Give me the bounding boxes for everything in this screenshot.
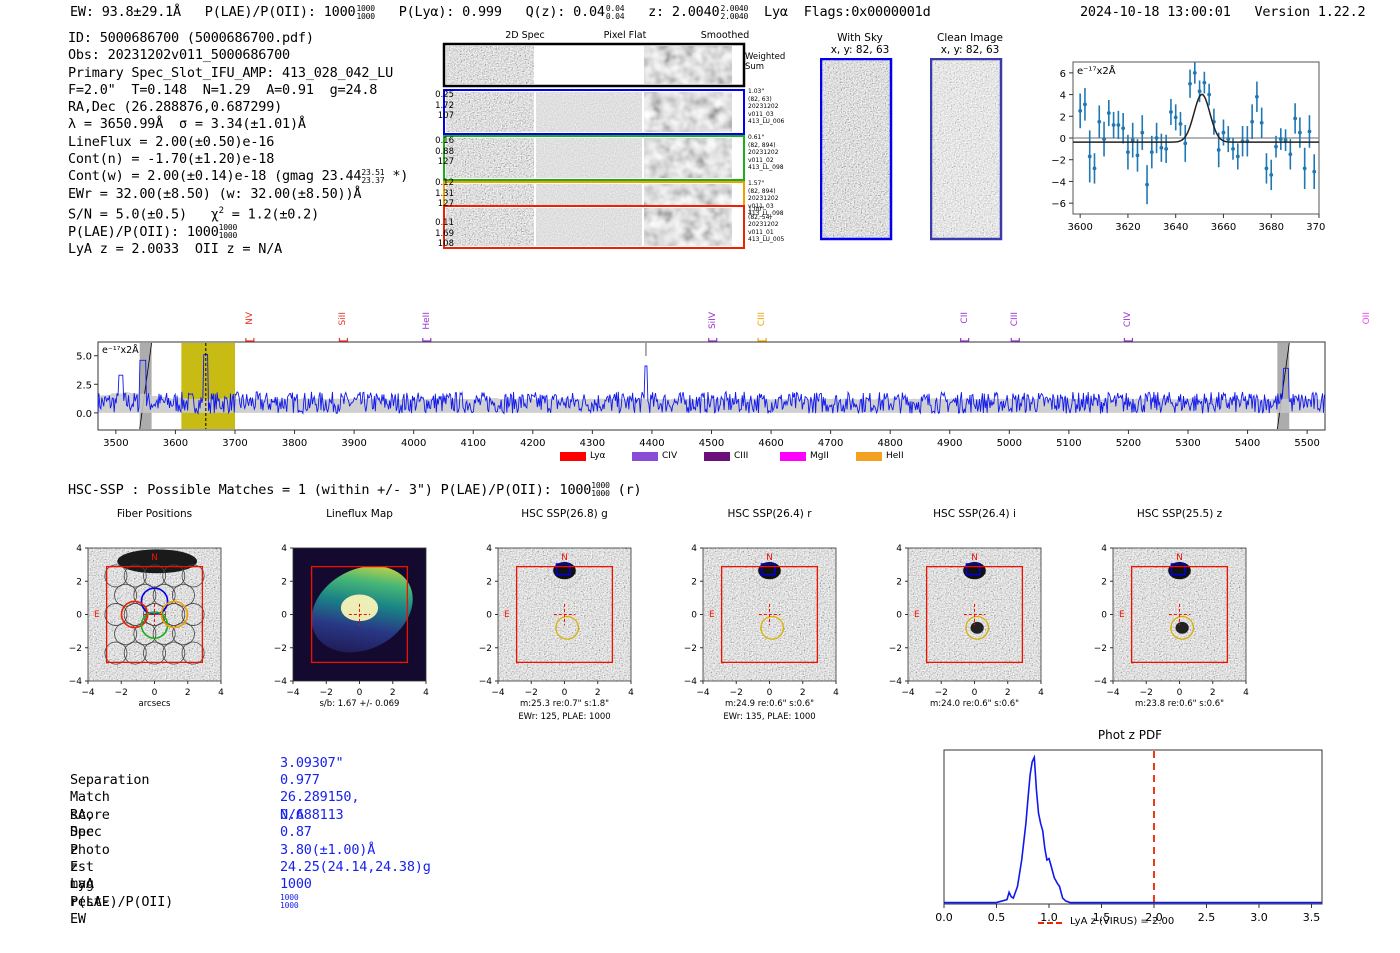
- svg-text:4300: 4300: [580, 438, 605, 449]
- cutout-image-2: NE−4−4−2−2002244: [458, 526, 645, 715]
- header-summary-line: EW: 93.8±29.1Å P(LAE)/P(OII): 1000100010…: [70, 4, 931, 21]
- photz-pdf-chart: Phot z PDF 0.00.51.01.52.02.53.03.5 LyA …: [930, 728, 1330, 943]
- svg-text:2: 2: [281, 577, 287, 587]
- info-redshifts: LyA z = 2.0033 OII z = N/A: [68, 241, 408, 258]
- line-profile-unit-label: e⁻¹⁷x2Å: [1077, 64, 1116, 77]
- svg-text:−4: −4: [1106, 688, 1120, 698]
- cutout-image-5: NE−4−4−2−2002244: [1073, 526, 1260, 715]
- svg-text:0: 0: [152, 688, 158, 698]
- info-wavelength-sigma: λ = 3650.99Å σ = 3.34(±1.01)Å: [68, 116, 408, 133]
- match-value-1: 0.977: [280, 772, 320, 789]
- with-sky-coords: x, y: 82, 63: [820, 44, 900, 56]
- svg-text:N: N: [151, 553, 158, 563]
- hsc-plae-fraction: 10001000: [591, 482, 609, 498]
- svg-text:4: 4: [896, 544, 902, 554]
- match-key-6: mag: [70, 876, 94, 893]
- svg-text:−6: −6: [1051, 199, 1066, 210]
- svg-text:5300: 5300: [1175, 438, 1200, 449]
- svg-text:−4: −4: [684, 677, 698, 687]
- svg-text:4400: 4400: [639, 438, 664, 449]
- header-flags: Flags:0x0000001d: [804, 4, 931, 20]
- cutout-caption2-3: EWr: 135, PLAE: 1000: [658, 711, 881, 723]
- header-qz-fraction: 0.040.04: [606, 5, 624, 21]
- svg-text:0.0: 0.0: [76, 409, 92, 420]
- svg-text:0: 0: [691, 611, 697, 621]
- spec2d-weighted-sum-row: [444, 44, 744, 86]
- header-version: Version 1.22.2: [1254, 4, 1365, 20]
- with-sky-title: With Sky: [820, 32, 900, 44]
- svg-text:4: 4: [218, 688, 224, 698]
- match-value-7: 100010001000: [280, 876, 312, 911]
- svg-text:0: 0: [1101, 611, 1107, 621]
- spectrum-legend-label-heii: HeII: [886, 451, 904, 461]
- svg-text:2: 2: [1101, 577, 1107, 587]
- info-ewr: EWr = 32.00(±8.50) (w: 32.00(±8.50))Å: [68, 186, 408, 203]
- svg-text:3660: 3660: [1211, 222, 1236, 233]
- spectrum-legend-swatch-lyα: [560, 452, 586, 461]
- match-value-0: 3.09307": [280, 755, 343, 772]
- svg-text:3640: 3640: [1163, 222, 1188, 233]
- svg-text:0: 0: [972, 688, 978, 698]
- svg-text:−2: −2: [730, 688, 743, 698]
- svg-text:−4: −4: [889, 677, 903, 687]
- svg-text:−2: −2: [274, 644, 287, 654]
- spec2d-row-nums-1: 0.251.72107: [422, 90, 454, 122]
- svg-text:3.0: 3.0: [1250, 911, 1268, 924]
- cutout-title-0: Fiber Positions: [53, 508, 256, 520]
- svg-text:4700: 4700: [818, 438, 843, 449]
- cutout-image-4: NE−4−4−2−2002244: [868, 526, 1055, 715]
- spec2d-block: 2D Spec Pixel Flat Smoothed Weighted Sum: [440, 30, 780, 250]
- svg-text:−2: −2: [1094, 644, 1107, 654]
- svg-text:−4: −4: [69, 677, 83, 687]
- cutout-title-5: HSC SSP(25.5) z: [1078, 508, 1281, 520]
- svg-text:4500: 4500: [699, 438, 724, 449]
- spec2d-row-meta-2: 0.61"(82, 894) 20231202v011_02 413_LL_09…: [748, 134, 784, 172]
- header-timestamp-version: 2024-10-18 13:00:01 Version 1.22.2: [1080, 4, 1365, 20]
- svg-text:5.0: 5.0: [76, 352, 92, 363]
- header-line-name: Lyα: [764, 4, 788, 20]
- spec2d-row-meta-4: 1.00"(82, 54) 20231202v011_01 413_LU_005: [748, 206, 784, 244]
- info-plae: P(LAE)/P(OII): 100010001000: [68, 224, 408, 241]
- cutout-caption1-0: arcsecs: [43, 698, 266, 710]
- photz-title: Phot z PDF: [930, 728, 1330, 742]
- svg-text:−2: −2: [1051, 156, 1066, 167]
- spectrum-legend-swatch-ciii: [704, 452, 730, 461]
- svg-text:2: 2: [390, 688, 396, 698]
- svg-text:4: 4: [423, 688, 429, 698]
- spectrum-legend-swatch-civ: [632, 452, 658, 461]
- clean-image-title: Clean Image: [930, 32, 1010, 44]
- svg-text:2: 2: [1005, 688, 1011, 698]
- svg-text:N: N: [766, 553, 773, 563]
- hsc-ssp-header: HSC-SSP : Possible Matches = 1 (within +…: [68, 482, 641, 498]
- svg-text:−2: −2: [320, 688, 333, 698]
- svg-text:0: 0: [1177, 688, 1183, 698]
- emission-line-label-nv-0: NV: [245, 312, 255, 325]
- svg-text:−4: −4: [696, 688, 710, 698]
- svg-text:−2: −2: [69, 644, 82, 654]
- cutout-title-3: HSC SSP(26.4) r: [668, 508, 871, 520]
- svg-text:4: 4: [281, 544, 287, 554]
- header-ew: EW: 93.8±29.1Å: [70, 4, 181, 20]
- svg-text:0: 0: [486, 611, 492, 621]
- svg-text:−2: −2: [479, 644, 492, 654]
- spectrum-legend-swatch-mgii: [780, 452, 806, 461]
- cutout-title-4: HSC SSP(26.4) i: [873, 508, 1076, 520]
- header-z-fraction: 2.00402.0040: [720, 5, 748, 21]
- emission-line-label-ciii-4: CIII: [757, 312, 767, 326]
- svg-text:2: 2: [185, 688, 191, 698]
- match-value-fraction: 10001000: [280, 894, 298, 910]
- svg-text:2: 2: [595, 688, 601, 698]
- svg-text:5100: 5100: [1056, 438, 1081, 449]
- svg-text:2.5: 2.5: [76, 380, 92, 391]
- info-plae-fraction: 10001000: [219, 224, 237, 240]
- svg-text:4: 4: [628, 688, 634, 698]
- cutout-caption1-3: m:24.9 re:0.6" s:0.6": [658, 698, 881, 710]
- svg-text:0: 0: [1060, 134, 1066, 145]
- info-radec: RA,Dec (26.288876,0.687299): [68, 99, 408, 116]
- svg-text:−4: −4: [1051, 177, 1066, 188]
- header-plae-label: P(LAE)/P(OII): 1000: [205, 4, 356, 20]
- spec2d-row-nums-2: 0.160.88127: [422, 136, 454, 168]
- svg-text:4200: 4200: [520, 438, 545, 449]
- svg-text:6: 6: [1060, 69, 1066, 80]
- svg-text:5200: 5200: [1116, 438, 1141, 449]
- spectrum-legend-label-civ: CIV: [662, 451, 677, 461]
- emission-line-label-heii-2: HeII: [422, 312, 432, 330]
- svg-text:N: N: [561, 553, 568, 563]
- info-primary-spec-slot: Primary Spec_Slot_IFU_AMP: 413_028_042_L…: [68, 65, 408, 82]
- svg-text:4: 4: [1038, 688, 1044, 698]
- emission-line-label-oii-8: OII: [1362, 312, 1372, 324]
- cutout-caption1-4: m:24.0 re:0.6" s:0.6": [863, 698, 1086, 710]
- spec2d-row-meta-1: 1.03"(82, 63) 20231202v011_03 413_LU_006: [748, 88, 784, 126]
- svg-text:N: N: [1176, 553, 1183, 563]
- photz-legend-swatch: [1038, 922, 1062, 924]
- svg-text:0: 0: [357, 688, 363, 698]
- info-id: ID: 5000686700 (5000686700.pdf): [68, 30, 408, 47]
- svg-text:e⁻¹⁷x2Å: e⁻¹⁷x2Å: [102, 344, 139, 356]
- spec2d-fiber-row-1: [444, 90, 744, 134]
- svg-text:−2: −2: [1140, 688, 1153, 698]
- source-info-block: ID: 5000686700 (5000686700.pdf) Obs: 202…: [68, 30, 408, 258]
- svg-text:−4: −4: [479, 677, 493, 687]
- svg-text:4600: 4600: [758, 438, 783, 449]
- svg-text:0: 0: [562, 688, 568, 698]
- svg-text:3700: 3700: [1306, 222, 1325, 233]
- spec2d-row-nums-4: 0.111.69108: [422, 218, 454, 250]
- match-value-3: N/A: [280, 807, 304, 824]
- svg-text:2: 2: [486, 577, 492, 587]
- svg-text:0: 0: [76, 611, 82, 621]
- match-key-0: Separation: [70, 772, 149, 789]
- svg-text:5000: 5000: [997, 438, 1022, 449]
- svg-text:3800: 3800: [282, 438, 307, 449]
- info-continuum-wide: Cont(w) = 2.00(±0.14)e-18 (gmag 23.4423.…: [68, 168, 408, 185]
- spectrum-legend-label-ciii: CIII: [734, 451, 748, 461]
- svg-text:3700: 3700: [222, 438, 247, 449]
- svg-text:−2: −2: [935, 688, 948, 698]
- header-datetime: 2024-10-18 13:00:01: [1080, 4, 1231, 20]
- info-sn-chi2: S/N = 5.0(±0.5) χ2 = 1.2(±0.2): [68, 203, 408, 224]
- svg-text:3.5: 3.5: [1303, 911, 1321, 924]
- svg-text:0.5: 0.5: [988, 911, 1006, 924]
- info-seeing-throughput: F=2.0" T=0.148 N=1.29 A=0.91 g=24.8: [68, 82, 408, 99]
- spectrum-legend-swatch-heii: [856, 452, 882, 461]
- svg-text:E: E: [914, 610, 920, 620]
- info-gmag-range: 23.5123.37: [361, 169, 384, 185]
- spectrum-legend-label-mgii: MgII: [810, 451, 829, 461]
- hsc-header-text: HSC-SSP : Possible Matches = 1 (within +…: [68, 482, 591, 498]
- emission-line-label-ciii-6: CIII: [1010, 312, 1020, 326]
- spec2d-row-nums-3: 0.121.31127: [422, 178, 454, 210]
- svg-text:3900: 3900: [341, 438, 366, 449]
- header-plae-fraction: 10001000: [356, 5, 374, 21]
- line-profile-chart: e⁻¹⁷x2Å360036203640366036803700−6−4−2024…: [1035, 48, 1325, 248]
- svg-text:2: 2: [1210, 688, 1216, 698]
- svg-text:4: 4: [1243, 688, 1249, 698]
- hsc-header-filter: (r): [618, 482, 642, 498]
- svg-text:E: E: [94, 610, 100, 620]
- svg-text:3620: 3620: [1115, 222, 1140, 233]
- svg-text:3680: 3680: [1259, 222, 1284, 233]
- spectrum-legend-label-lyα: Lyα: [590, 451, 605, 461]
- svg-text:4: 4: [1101, 544, 1107, 554]
- svg-text:4000: 4000: [401, 438, 426, 449]
- svg-text:−4: −4: [274, 677, 288, 687]
- svg-text:4: 4: [76, 544, 82, 554]
- svg-text:4: 4: [486, 544, 492, 554]
- clean-image-coords: x, y: 82, 63: [930, 44, 1010, 56]
- svg-text:2: 2: [76, 577, 82, 587]
- svg-text:N: N: [971, 553, 978, 563]
- cutout-row: Fiber PositionsNE−4−4−2−2002244arcsecsLi…: [60, 508, 1350, 723]
- info-lineflux: LineFlux = 2.00(±0.50)e-16: [68, 134, 408, 151]
- spec2d-fiber-row-4: [444, 206, 744, 248]
- svg-text:0.0: 0.0: [935, 911, 953, 924]
- emission-line-label-siii-1: SiII: [338, 312, 348, 326]
- cutout-title-2: HSC SSP(26.8) g: [463, 508, 666, 520]
- svg-text:−4: −4: [81, 688, 95, 698]
- svg-text:4: 4: [691, 544, 697, 554]
- svg-text:0: 0: [767, 688, 773, 698]
- svg-text:2: 2: [1060, 112, 1066, 123]
- info-obs: Obs: 20231202v011_5000686700: [68, 47, 408, 64]
- emission-line-label-cii-5: CII: [960, 312, 970, 324]
- info-continuum-narrow: Cont(n) = -1.70(±1.20)e-18: [68, 151, 408, 168]
- svg-text:−4: −4: [901, 688, 915, 698]
- cutout-caption1-2: m:25.3 re:0.7" s:1.8": [453, 698, 676, 710]
- svg-text:3600: 3600: [163, 438, 188, 449]
- svg-text:E: E: [504, 610, 510, 620]
- svg-text:−2: −2: [684, 644, 697, 654]
- svg-text:3500: 3500: [103, 438, 128, 449]
- svg-text:2: 2: [691, 577, 697, 587]
- cutout-caption2-2: EWr: 125, PLAE: 1000: [453, 711, 676, 723]
- match-value-6: 24.25(24.14,24.38)g: [280, 859, 431, 876]
- match-key-7: P(LAE)/P(OII): [70, 894, 173, 911]
- photz-legend-label: LyA z (VIRUS) = 2.00: [1070, 916, 1174, 927]
- svg-text:5500: 5500: [1294, 438, 1319, 449]
- svg-text:4100: 4100: [461, 438, 486, 449]
- svg-text:4900: 4900: [937, 438, 962, 449]
- full-spectrum-chart: e⁻¹⁷x2Å350036003700380039004000410042004…: [70, 310, 1330, 475]
- svg-text:−2: −2: [889, 644, 902, 654]
- svg-text:−4: −4: [286, 688, 300, 698]
- cutout-caption1-5: m:23.8 re:0.6" s:0.6": [1068, 698, 1291, 710]
- header-z-label: z: 2.0040: [648, 4, 719, 20]
- spec2d-fiber-row-2: [444, 136, 744, 180]
- svg-text:−2: −2: [115, 688, 128, 698]
- svg-text:4800: 4800: [877, 438, 902, 449]
- svg-text:3600: 3600: [1067, 222, 1092, 233]
- svg-text:4: 4: [1060, 91, 1066, 102]
- svg-text:−2: −2: [525, 688, 538, 698]
- svg-text:4: 4: [833, 688, 839, 698]
- svg-text:2: 2: [800, 688, 806, 698]
- svg-text:E: E: [709, 610, 715, 620]
- match-value-4: 0.87: [280, 824, 312, 841]
- emission-line-label-siiv-3: SiIV: [708, 312, 718, 329]
- svg-text:−4: −4: [1094, 677, 1108, 687]
- cutout-image-0: NE−4−4−2−2002244: [48, 526, 235, 715]
- cutout-title-1: Lineflux Map: [258, 508, 461, 520]
- cutout-image-1: −4−4−2−2002244: [253, 526, 440, 715]
- cutout-caption1-1: s/b: 1.67 +/- 0.069: [248, 698, 471, 710]
- svg-text:2: 2: [896, 577, 902, 587]
- header-plya: P(Lyα): 0.999: [399, 4, 502, 20]
- svg-text:−4: −4: [491, 688, 505, 698]
- svg-text:0: 0: [281, 611, 287, 621]
- svg-text:0: 0: [896, 611, 902, 621]
- cutout-image-3: NE−4−4−2−2002244: [663, 526, 850, 715]
- svg-text:2.5: 2.5: [1198, 911, 1216, 924]
- header-qz-label: Q(z): 0.04: [526, 4, 605, 20]
- svg-text:E: E: [1119, 610, 1125, 620]
- emission-line-label-civ-7: CIV: [1123, 312, 1133, 327]
- match-value-5: 3.80(±1.00)Å: [280, 842, 375, 859]
- svg-text:5400: 5400: [1235, 438, 1260, 449]
